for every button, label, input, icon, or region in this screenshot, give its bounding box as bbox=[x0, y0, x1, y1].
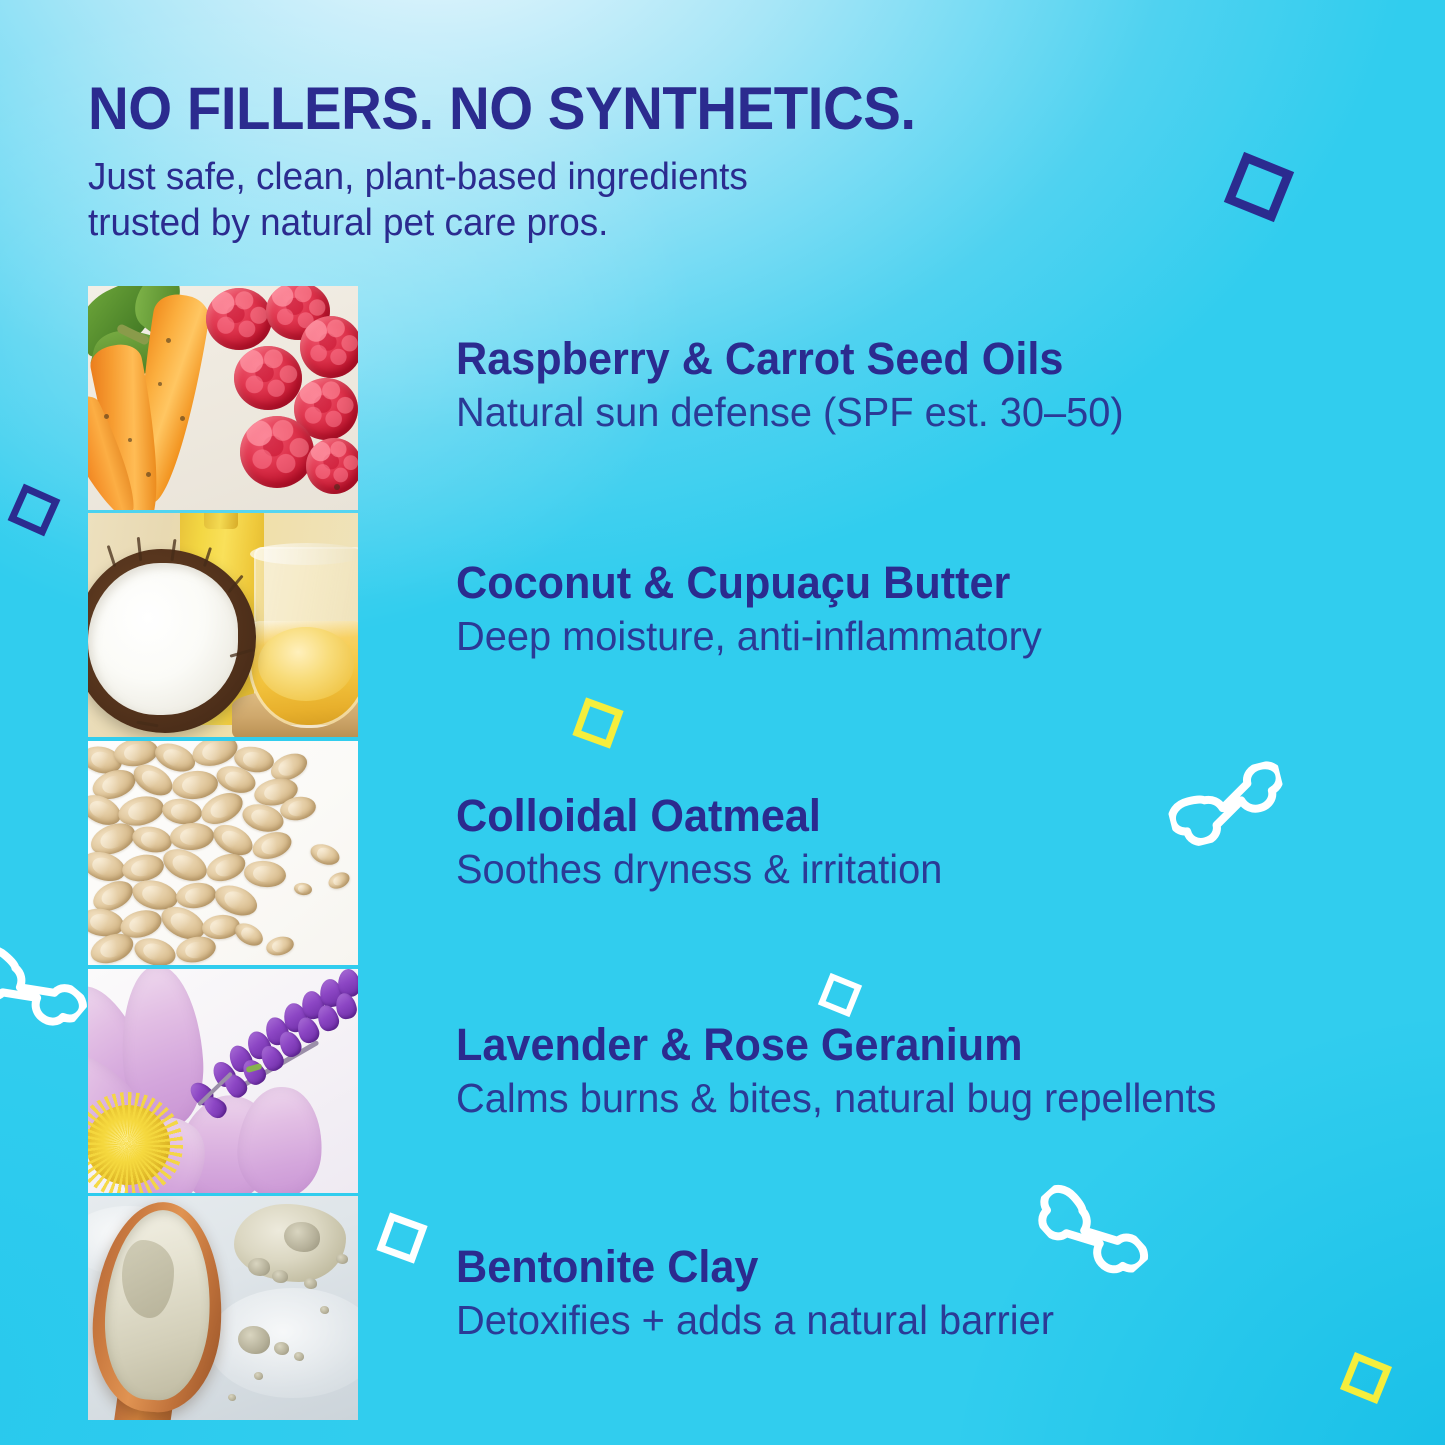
ingredient-title: Bentonite Clay bbox=[456, 1244, 1048, 1289]
ingredient-photo-5 bbox=[88, 1196, 358, 1420]
ingredient-photo-4 bbox=[88, 969, 358, 1193]
ingredient-subtitle: Natural sun defense (SPF est. 30–50) bbox=[456, 391, 1124, 434]
ingredient-subtitle: Soothes dryness & irritation bbox=[456, 848, 942, 891]
ingredient-subtitle: Detoxifies + adds a natural barrier bbox=[456, 1299, 1054, 1342]
coconut-and-oil-photo bbox=[88, 513, 358, 737]
bentonite-clay-spoon-photo bbox=[88, 1196, 358, 1420]
infographic-canvas: NO FILLERS. NO SYNTHETICS. Just safe, cl… bbox=[0, 0, 1445, 1445]
ingredient-subtitle: Deep moisture, anti-inflammatory bbox=[456, 615, 1042, 658]
ingredient-photo-2 bbox=[88, 513, 358, 737]
ingredient-list: Raspberry & Carrot Seed Oils Natural sun… bbox=[0, 0, 1445, 1445]
lavender-and-flower-photo bbox=[88, 969, 358, 1193]
ingredient-title: Colloidal Oatmeal bbox=[456, 793, 937, 838]
ingredient-subtitle: Calms burns & bites, natural bug repelle… bbox=[456, 1077, 1216, 1120]
ingredient-photo-3 bbox=[88, 741, 358, 965]
carrots-and-raspberries-photo bbox=[88, 286, 358, 510]
ingredient-title: Raspberry & Carrot Seed Oils bbox=[456, 336, 1117, 381]
ingredient-title: Lavender & Rose Geranium bbox=[456, 1022, 1209, 1067]
ingredient-text-2: Coconut & Cupuaçu Butter Deep moisture, … bbox=[456, 560, 1060, 658]
ingredient-photo-1 bbox=[88, 286, 358, 510]
ingredient-title: Coconut & Cupuaçu Butter bbox=[456, 560, 1036, 605]
ingredient-text-1: Raspberry & Carrot Seed Oils Natural sun… bbox=[456, 336, 1144, 434]
ingredient-text-3: Colloidal Oatmeal Soothes dryness & irri… bbox=[456, 793, 957, 891]
ingredient-text-5: Bentonite Clay Detoxifies + adds a natur… bbox=[456, 1244, 1072, 1342]
oat-flakes-photo bbox=[88, 741, 358, 965]
ingredient-text-4: Lavender & Rose Geranium Calms burns & b… bbox=[456, 1022, 1240, 1120]
